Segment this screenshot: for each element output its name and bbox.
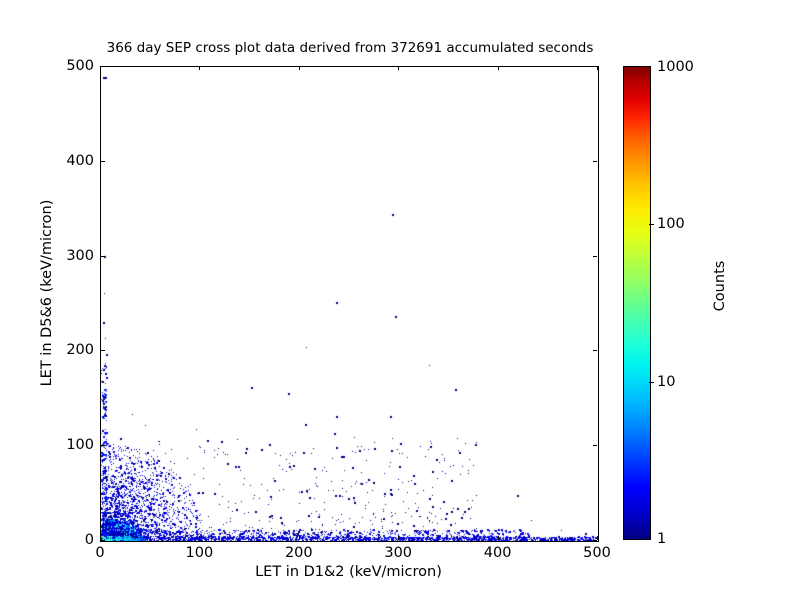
colorbar-gradient [623,66,651,540]
colorbar-tick-label: 100 [657,216,685,232]
x-tick-label: 500 [583,545,611,561]
x-tick-mark [498,536,499,540]
y-tick-label: 400 [66,153,94,169]
y-tick-label: 200 [66,342,94,358]
x-tick-label: 100 [186,545,214,561]
chart-title-line-1: 366 day SEP cross plot data derived from… [0,40,700,57]
x-tick-mark-top [299,66,300,70]
y-tick-mark [101,161,105,162]
x-axis-label: LET in D1&2 (keV/micron) [100,564,597,580]
y-tick-mark-right [593,161,597,162]
x-tick-mark [398,536,399,540]
x-tick-label: 400 [484,545,512,561]
y-tick-mark [101,540,105,541]
y-tick-label: 300 [66,248,94,264]
x-tick-mark [199,536,200,540]
x-tick-mark-top [597,66,598,70]
y-tick-mark [101,256,105,257]
colorbar-tick-label: 1000 [657,59,694,75]
x-tick-label: 200 [285,545,313,561]
x-tick-label: 300 [384,545,412,561]
colorbar-tick-label: 10 [657,374,675,390]
y-tick-label: 0 [85,532,94,548]
y-axis-label: LET in D5&6 (keV/micron) [39,128,55,458]
x-tick-mark [597,536,598,540]
colorbar-label: Counts [712,206,728,366]
y-tick-mark-right [593,256,597,257]
y-tick-mark-right [593,350,597,351]
y-tick-mark-right [593,540,597,541]
x-tick-mark-top [199,66,200,70]
x-tick-mark-top [398,66,399,70]
figure-canvas: 366 day SEP cross plot data derived from… [0,0,800,600]
y-tick-mark-right [593,66,597,67]
y-tick-label: 100 [66,437,94,453]
y-tick-mark [101,66,105,67]
colorbar-tick-label: 1 [657,531,666,547]
colorbar-tick-mark [649,382,654,383]
y-tick-mark-right [593,445,597,446]
y-tick-mark [101,445,105,446]
y-tick-label: 500 [66,58,94,74]
y-tick-mark [101,350,105,351]
x-tick-label: 0 [95,545,104,561]
x-tick-mark-top [498,66,499,70]
colorbar-tick-mark [649,224,654,225]
colorbar: 1101001000 [623,66,651,540]
scatter-plot-area [100,66,599,542]
x-tick-mark [299,536,300,540]
scatter-points-layer [101,67,598,541]
